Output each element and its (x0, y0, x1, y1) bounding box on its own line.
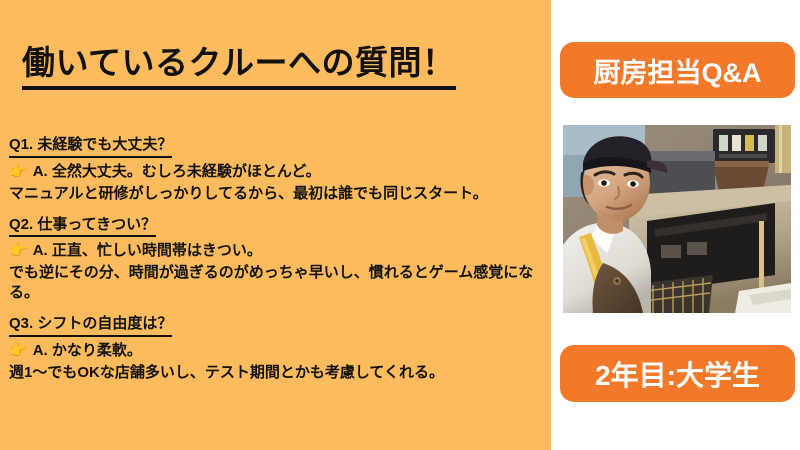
qa-answer: A. 全然大丈夫。むしろ未経験がほとんど。 (33, 163, 321, 180)
qa-answer: A. かなり柔軟。 (33, 342, 142, 359)
kitchen-crew-photo (563, 125, 791, 313)
qa-question: Q1. 未経験でも大丈夫？ (9, 136, 172, 158)
page-title: 働いているクルーへの質問！ (22, 45, 456, 90)
pointing-finger-icon: 👉 (9, 341, 28, 361)
qa-detail: でも逆にその分、時間が過ぎるのがめっちゃ早いし、慣れるとゲーム感覚になる。 (9, 263, 545, 303)
badge-tenure: 2年目:大学生 (560, 345, 795, 402)
qa-item: Q3. シフトの自由度は？ 👉A. かなり柔軟。 週1〜でもOKな店舗多いし、テ… (9, 315, 547, 383)
qa-answer: A. 正直、忙しい時間帯はきつい。 (33, 242, 262, 259)
slide-canvas: 働いているクルーへの質問！ Q1. 未経験でも大丈夫？ 👉A. 全然大丈夫。むし… (0, 0, 800, 450)
kitchen-crew-photo-graphic (563, 125, 791, 313)
qa-item: Q2. 仕事ってきつい？ 👉A. 正直、忙しい時間帯はきつい。 でも逆にその分、… (9, 216, 547, 304)
qa-detail: 週1〜でもOKな店舗多いし、テスト期間とかも考慮してくれる。 (9, 363, 545, 383)
qa-answer-row: 👉A. かなり柔軟。 (9, 341, 547, 361)
qa-answer-row: 👉A. 全然大丈夫。むしろ未経験がほとんど。 (9, 162, 547, 182)
qa-list: Q1. 未経験でも大丈夫？ 👉A. 全然大丈夫。むしろ未経験がほとんど。 マニュ… (9, 136, 547, 383)
pointing-finger-icon: 👉 (9, 241, 28, 261)
qa-question: Q2. 仕事ってきつい？ (9, 216, 156, 238)
qa-item: Q1. 未経験でも大丈夫？ 👉A. 全然大丈夫。むしろ未経験がほとんど。 マニュ… (9, 136, 547, 204)
qa-detail: マニュアルと研修がしっかりしてるから、最初は誰でも同じスタート。 (9, 184, 545, 204)
pointing-finger-icon: 👉 (9, 162, 28, 182)
badge-role: 厨房担当Q&A (560, 42, 795, 98)
qa-answer-row: 👉A. 正直、忙しい時間帯はきつい。 (9, 241, 547, 261)
qa-question: Q3. シフトの自由度は？ (9, 315, 172, 337)
